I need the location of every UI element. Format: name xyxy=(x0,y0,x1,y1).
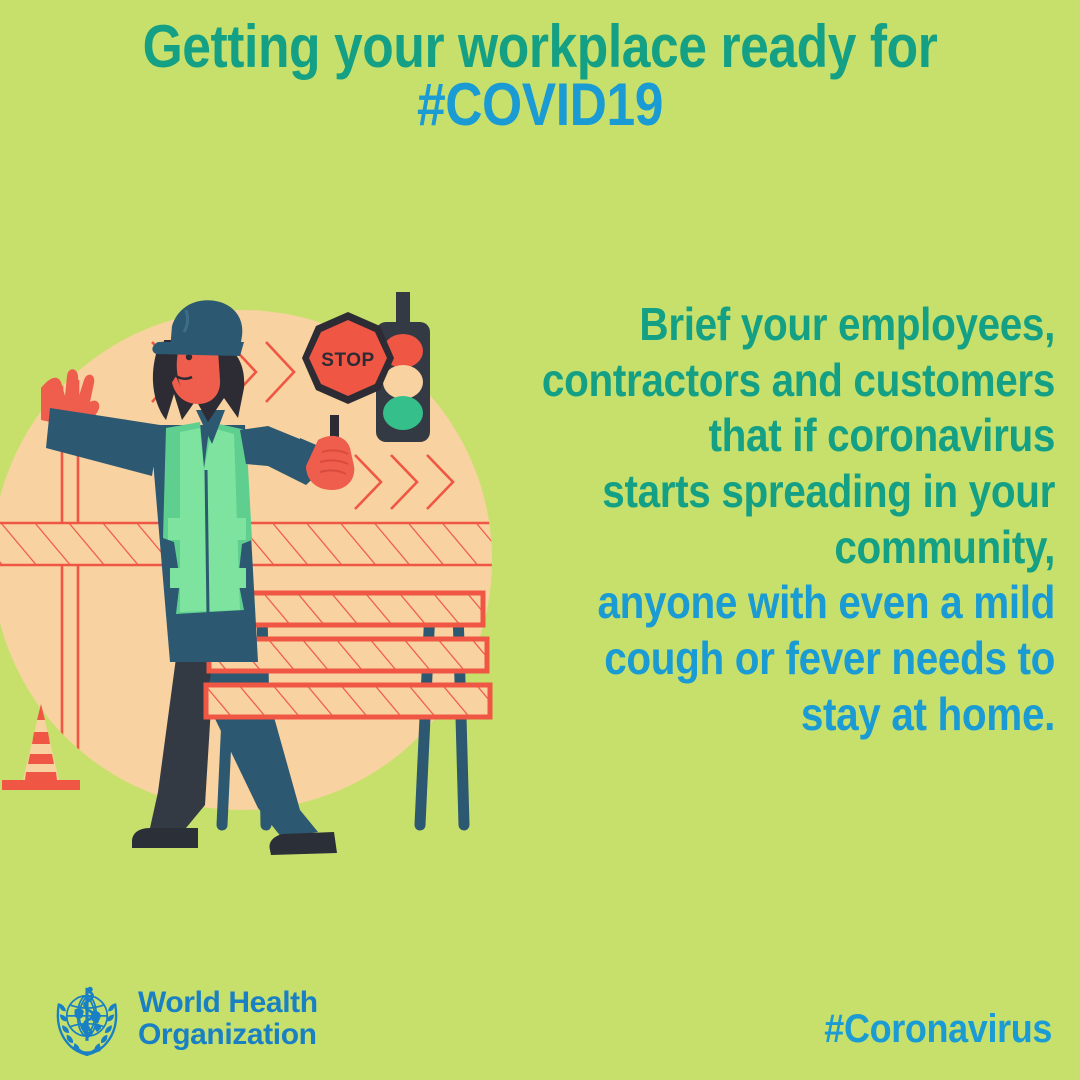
who-emblem-icon xyxy=(48,980,126,1058)
worker-head xyxy=(152,300,244,422)
hatched-band xyxy=(0,523,520,565)
poster-canvas: Getting your workplace ready for #COVID1… xyxy=(0,0,1080,1080)
page-title: Getting your workplace ready for #COVID1… xyxy=(110,18,970,133)
message-line-8: stay at home. xyxy=(509,687,1055,743)
message-line-6: anyone with even a mild xyxy=(509,575,1055,631)
message-line-7: cough or fever needs to xyxy=(509,631,1055,687)
who-wordmark-line-2: Organization xyxy=(138,1019,318,1051)
who-wordmark-line-1: World Health xyxy=(138,987,318,1019)
message-line-3: that if coronavirus xyxy=(509,408,1055,464)
message-body: Brief your employees, contractors and cu… xyxy=(509,297,1055,742)
headline-line-1: Getting your workplace ready for xyxy=(110,18,970,76)
traffic-light-amber-lamp xyxy=(383,365,423,399)
message-line-1: Brief your employees, xyxy=(509,297,1055,353)
illustration-road-worker: STOP xyxy=(0,280,520,860)
message-line-5: community, xyxy=(509,520,1055,576)
traffic-light-green-lamp xyxy=(383,396,423,430)
stop-sign-label: STOP xyxy=(321,350,374,371)
message-line-2: contractors and customers xyxy=(509,353,1055,409)
hashtag-coronavirus: #Coronavirus xyxy=(824,1007,1052,1052)
who-logo: World Health Organization xyxy=(48,980,318,1058)
illustration-svg: STOP xyxy=(0,280,520,860)
message-line-4: starts spreading in your xyxy=(509,464,1055,520)
headline-line-2-hashtag: #COVID19 xyxy=(110,76,970,134)
who-wordmark: World Health Organization xyxy=(138,987,318,1051)
